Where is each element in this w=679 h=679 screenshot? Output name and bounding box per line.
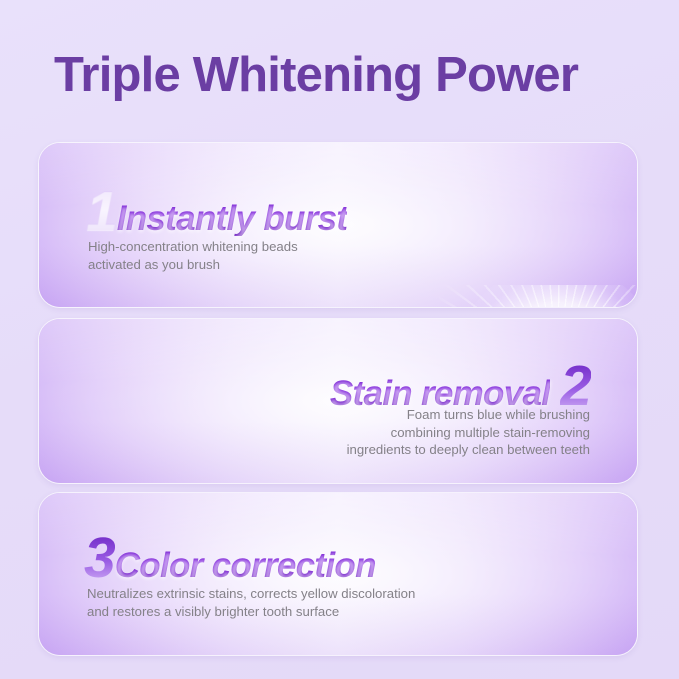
card-1-body-text: High-concentration whitening beads activ… <box>88 238 298 273</box>
card-3-heading: Color correction <box>115 548 376 583</box>
card-1-number: 1 <box>86 183 117 240</box>
card-1-heading: Instantly burst <box>117 201 348 236</box>
card-3-headline: 3 Color correction <box>84 530 376 587</box>
card-1-headline: 1 Instantly burst <box>86 183 347 240</box>
infographic-page: Triple Whitening Power 1 Instantly burst… <box>0 0 679 679</box>
card-2-body-text: Foam turns blue while brushing combining… <box>270 406 590 459</box>
card-3-body-text: Neutralizes extrinsic stains, corrects y… <box>87 585 415 620</box>
card-3-number: 3 <box>84 530 115 587</box>
page-title: Triple Whitening Power <box>54 47 634 103</box>
